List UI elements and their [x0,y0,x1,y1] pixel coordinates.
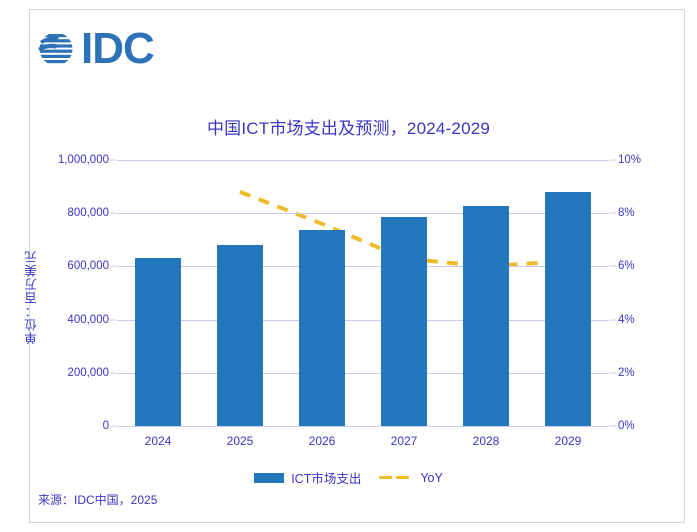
right-tick-mark [610,160,616,161]
bar-2028[interactable] [463,206,509,426]
right-tick-mark [610,266,616,267]
idc-globe-icon [35,28,77,70]
x-axis-labels: 202420252026202720282029 [117,434,609,454]
right-axis-tick-label: 8% [618,207,635,219]
x-axis-label-2027: 2027 [391,434,418,448]
left-tick-mark [110,266,116,267]
idc-logo: IDC [35,28,154,70]
left-tick-mark [110,213,116,214]
dashed-line-swatch-icon [379,473,413,483]
legend-item-spend[interactable]: ICT市场支出 [254,468,361,487]
left-tick-mark [110,319,116,320]
x-axis-label-2029: 2029 [555,434,582,448]
left-axis-tick-label: 1,000,000 [58,154,109,166]
x-axis-label-2024: 2024 [145,434,172,448]
source-note: 来源：IDC中国，2025 [38,491,157,508]
x-axis-label-2026: 2026 [309,434,336,448]
left-tick-mark [110,426,116,427]
right-tick-mark [610,319,616,320]
gridline [117,213,609,214]
left-tick-mark [110,160,116,161]
right-tick-mark [610,426,616,427]
axis-baseline [117,426,609,427]
gridline [117,320,609,321]
legend-item-yoy[interactable]: YoY [379,471,442,485]
x-axis-label-2028: 2028 [473,434,500,448]
bar-2026[interactable] [299,230,345,426]
plot-area: 1,000,000800,000600,000400,000200,000010… [117,160,609,426]
chart-legend: ICT市场支出 YoY [0,468,697,487]
left-axis-tick-label: 200,000 [67,367,109,379]
left-axis-tick-label: 0 [103,420,109,432]
right-tick-mark [610,213,616,214]
right-axis-tick-label: 0% [618,420,635,432]
right-axis-tick-label: 6% [618,260,635,272]
gridline [117,373,609,374]
bar-2029[interactable] [545,192,591,426]
left-axis-tick-label: 400,000 [67,314,109,326]
bar-swatch-icon [254,473,284,483]
idc-logo-text: IDC [81,28,154,70]
x-axis-label-2025: 2025 [227,434,254,448]
right-axis-tick-label: 10% [618,154,641,166]
right-axis-tick-label: 2% [618,367,635,379]
bar-2024[interactable] [135,258,181,426]
right-tick-mark [610,372,616,373]
chart-title: 中国ICT市场支出及预测，2024-2029 [0,114,697,139]
yoy-line-series [117,160,609,426]
gridline [117,160,609,161]
legend-label-yoy: YoY [420,471,442,485]
bar-2025[interactable] [217,245,263,426]
chart-page: IDC 中国ICT市场支出及预测，2024-2029 单位：百万美元 1,000… [0,0,697,532]
legend-label-spend: ICT市场支出 [291,468,361,487]
bar-2027[interactable] [381,217,427,426]
left-axis-title: 单位：百万美元 [22,250,41,345]
gridline [117,266,609,267]
left-tick-mark [110,372,116,373]
left-axis-tick-label: 600,000 [67,260,109,272]
left-axis-tick-label: 800,000 [67,207,109,219]
right-axis-tick-label: 4% [618,314,635,326]
